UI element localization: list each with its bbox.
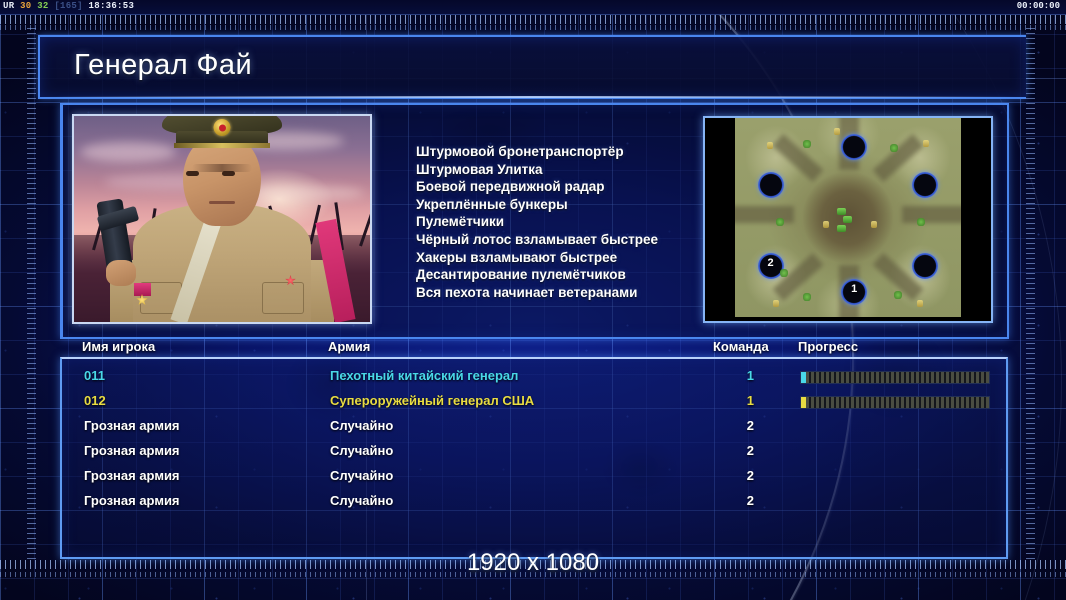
map-oil-derrick bbox=[834, 128, 840, 135]
debug-value-3: [165] bbox=[54, 1, 83, 11]
portrait-pocket bbox=[262, 282, 304, 314]
map-oil-derrick bbox=[871, 221, 877, 228]
player-team[interactable]: 1 bbox=[722, 368, 754, 383]
ability-item: Вся пехота начинает ветеранами bbox=[416, 284, 658, 302]
map-oil-derrick bbox=[923, 140, 929, 147]
ability-item: Пулемётчики bbox=[416, 213, 658, 231]
ruler-strip-right bbox=[1026, 28, 1035, 560]
debug-timestamp: 18:36:53 bbox=[89, 1, 135, 11]
map-spawn-label: 2 bbox=[758, 257, 784, 269]
player-name[interactable]: 012 bbox=[84, 393, 106, 408]
map-supply-dock bbox=[837, 208, 846, 215]
map-tree bbox=[917, 218, 925, 226]
map-spawn-point[interactable] bbox=[758, 172, 784, 198]
map-spawn-label: 1 bbox=[841, 283, 867, 295]
player-row[interactable]: Грозная армия Случайно 2 bbox=[62, 440, 1006, 464]
progress-fill bbox=[801, 372, 806, 383]
debug-value-2: 32 bbox=[37, 1, 48, 11]
title-underline bbox=[40, 96, 1026, 98]
map-tree bbox=[803, 140, 811, 148]
portrait-cap-trim bbox=[174, 143, 270, 148]
column-header-team: Команда bbox=[713, 339, 769, 354]
player-list-panel: 011 Пехотный китайский генерал 1 012 Суп… bbox=[60, 357, 1008, 559]
map-spawn-point[interactable] bbox=[912, 172, 938, 198]
portrait-eye-right bbox=[222, 171, 235, 176]
ability-item: Штурмовая Улитка bbox=[416, 161, 658, 179]
column-header-army: Армия bbox=[328, 339, 370, 354]
map-road bbox=[773, 134, 824, 182]
player-list-headers: Имя игрока Армия Команда Прогресс bbox=[60, 339, 1004, 357]
player-row[interactable]: Грозная армия Случайно 2 bbox=[62, 465, 1006, 489]
player-team[interactable]: 2 bbox=[722, 443, 754, 458]
map-road bbox=[735, 206, 794, 224]
player-row[interactable]: 011 Пехотный китайский генерал 1 bbox=[62, 365, 1006, 389]
progress-cells bbox=[801, 372, 989, 383]
page-title: Генерал Фай bbox=[74, 49, 252, 82]
ruler-strip-top-2 bbox=[0, 25, 1066, 30]
portrait-hand bbox=[106, 260, 136, 286]
player-team[interactable]: 2 bbox=[722, 493, 754, 508]
title-panel: Генерал Фай bbox=[38, 35, 1026, 99]
ability-item: Боевой передвижной радар bbox=[416, 178, 658, 196]
skirmish-setup-screen: UR 30 32 [165] 18:36:53 00:00:00 Генерал… bbox=[0, 0, 1066, 600]
player-name[interactable]: 011 bbox=[84, 368, 105, 383]
debug-readout: UR 30 32 [165] 18:36:53 bbox=[3, 1, 134, 12]
player-army[interactable]: Случайно bbox=[330, 493, 393, 508]
map-oil-derrick bbox=[773, 300, 779, 307]
map-supply-dock bbox=[837, 225, 846, 232]
ability-item: Чёрный лотос взламывает быстрее bbox=[416, 231, 658, 249]
player-army[interactable]: Случайно bbox=[330, 418, 393, 433]
map-tree bbox=[890, 144, 898, 152]
player-row[interactable]: 012 Супероружейный генерал США 1 bbox=[62, 390, 1006, 414]
ability-item: Укреплённые бункеры bbox=[416, 196, 658, 214]
portrait-cap-badge-icon bbox=[214, 119, 231, 136]
map-spawn-point-1[interactable]: 1 bbox=[841, 279, 867, 305]
general-portrait bbox=[72, 114, 372, 324]
player-team[interactable]: 2 bbox=[722, 418, 754, 433]
player-name[interactable]: Грозная армия bbox=[84, 418, 180, 433]
map-tree bbox=[776, 218, 784, 226]
debug-topbar: UR 30 32 [165] 18:36:53 00:00:00 bbox=[0, 0, 1066, 15]
debug-value-1: 30 bbox=[20, 1, 31, 11]
progress-fill bbox=[801, 397, 806, 408]
map-oil-derrick bbox=[823, 221, 829, 228]
resolution-label: 1920 x 1080 bbox=[0, 549, 1066, 577]
ability-item: Хакеры взламывают быстрее bbox=[416, 249, 658, 267]
map-terrain: 2 1 bbox=[735, 118, 961, 317]
ruler-strip-top bbox=[0, 15, 1066, 24]
player-row[interactable]: Грозная армия Случайно 2 bbox=[62, 490, 1006, 514]
map-preview[interactable]: 2 1 bbox=[703, 116, 993, 323]
mission-clock: 00:00:00 bbox=[1017, 1, 1060, 12]
player-team[interactable]: 1 bbox=[722, 393, 754, 408]
player-army[interactable]: Супероружейный генерал США bbox=[330, 393, 534, 408]
portrait-eye-left bbox=[186, 171, 199, 176]
player-name[interactable]: Грозная армия bbox=[84, 468, 180, 483]
column-header-name: Имя игрока bbox=[82, 339, 155, 354]
player-name[interactable]: Грозная армия bbox=[84, 443, 180, 458]
progress-cells bbox=[801, 397, 989, 408]
player-progress-bar bbox=[800, 396, 990, 409]
ability-item: Десантирование пулемётчиков bbox=[416, 266, 658, 284]
ruler-strip-left bbox=[27, 28, 36, 560]
map-tree bbox=[803, 293, 811, 301]
player-team[interactable]: 2 bbox=[722, 468, 754, 483]
map-oil-derrick bbox=[767, 142, 773, 149]
map-supply-dock bbox=[843, 216, 852, 223]
general-abilities-list: Штурмовой бронетранспортёр Штурмовая Ули… bbox=[416, 143, 658, 301]
map-spawn-point[interactable] bbox=[841, 134, 867, 160]
player-army[interactable]: Случайно bbox=[330, 468, 393, 483]
player-army[interactable]: Пехотный китайский генерал bbox=[330, 368, 518, 383]
player-army[interactable]: Случайно bbox=[330, 443, 393, 458]
player-row[interactable]: Грозная армия Случайно 2 bbox=[62, 415, 1006, 439]
map-oil-derrick bbox=[917, 300, 923, 307]
map-spawn-point[interactable] bbox=[912, 253, 938, 279]
portrait-medal bbox=[134, 283, 151, 296]
map-road bbox=[902, 206, 961, 224]
map-tree bbox=[894, 291, 902, 299]
ability-item: Штурмовой бронетранспортёр bbox=[416, 143, 658, 161]
column-header-progress: Прогресс bbox=[798, 339, 858, 354]
player-progress-bar bbox=[800, 371, 990, 384]
player-name[interactable]: Грозная армия bbox=[84, 493, 180, 508]
portrait-cloud bbox=[254, 186, 364, 200]
debug-prefix: UR bbox=[3, 1, 14, 11]
portrait-cloud bbox=[80, 142, 176, 162]
portrait-mouth bbox=[209, 201, 235, 204]
map-tree bbox=[780, 269, 788, 277]
